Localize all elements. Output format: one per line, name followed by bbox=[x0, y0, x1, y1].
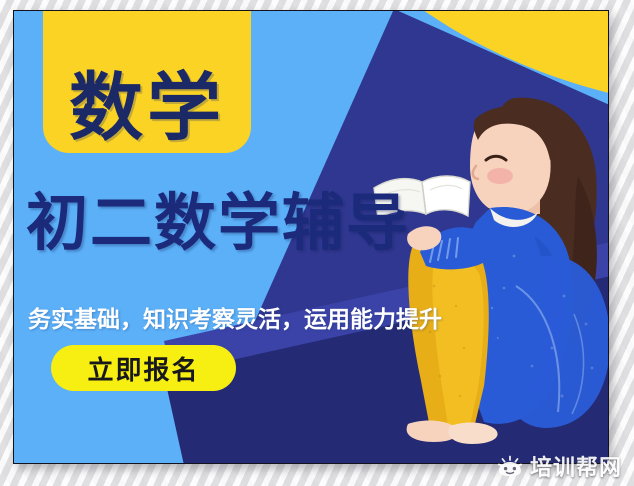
image-frame: 数学 初二数学辅导 务实基础，知识考察灵活，运用能力提升 立即报名 培训帮网 bbox=[0, 0, 634, 486]
girl-reading-book-illustration bbox=[364, 56, 609, 464]
sun-face-icon bbox=[497, 455, 523, 477]
subject-badge: 数学 bbox=[43, 10, 251, 153]
enroll-now-button-label: 立即报名 bbox=[87, 350, 199, 387]
watermark-text: 培训帮网 bbox=[530, 450, 622, 482]
page-title: 初二数学辅导 bbox=[26, 187, 526, 258]
course-promo-poster: 数学 初二数学辅导 务实基础，知识考察灵活，运用能力提升 立即报名 bbox=[13, 10, 609, 464]
enroll-now-button[interactable]: 立即报名 bbox=[51, 345, 236, 391]
subtitle-text: 务实基础，知识考察灵活，运用能力提升 bbox=[28, 300, 508, 334]
watermark: 培训帮网 bbox=[491, 448, 628, 484]
subject-badge-label: 数学 bbox=[69, 71, 225, 145]
